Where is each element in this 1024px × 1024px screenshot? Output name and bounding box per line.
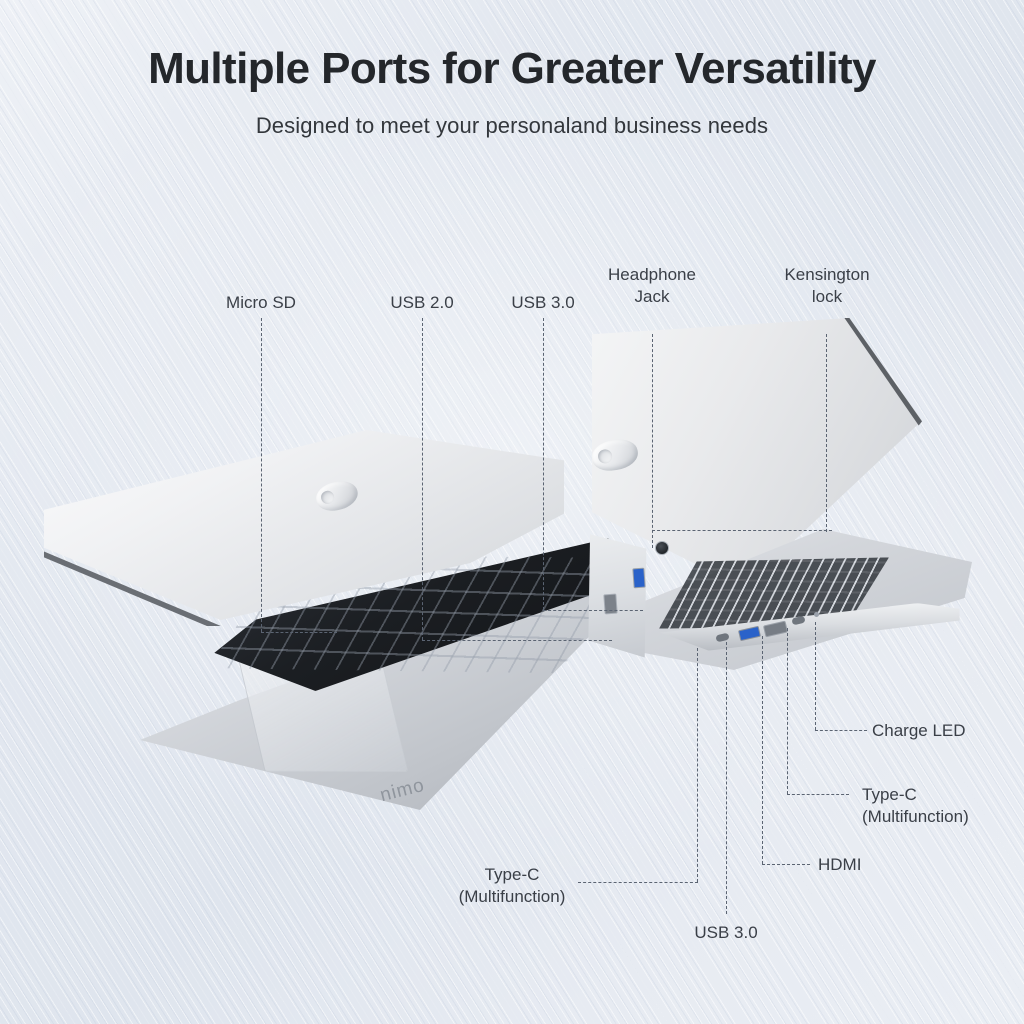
callout-text-kensington-lock-line2: lock: [752, 286, 902, 308]
port-headphone-jack-icon: [655, 541, 669, 555]
callout-label-charge-led: Charge LED: [872, 720, 1022, 742]
callout-label-usb-2-0: USB 2.0: [352, 292, 492, 314]
callout-label-headphone-jack: Headphone Jack: [577, 264, 727, 308]
callout-text-usb-3-0-bottom-line1: USB 3.0: [694, 923, 757, 942]
callout-label-usb-3-0-bottom: USB 3.0: [656, 922, 796, 944]
callout-label-type-c-bottom: Type-C (Multifunction): [432, 864, 592, 908]
callout-text-type-c-right-line1: Type-C: [862, 784, 1024, 806]
callout-text-headphone-jack-line2: Jack: [577, 286, 727, 308]
callout-text-kensington-lock-line1: Kensington: [752, 264, 902, 286]
infographic-canvas: Multiple Ports for Greater Versatility D…: [0, 0, 1024, 1024]
charge-led-icon: [814, 612, 819, 617]
callout-text-usb-2-0-line1: USB 2.0: [390, 293, 453, 312]
callout-label-micro-sd: Micro SD: [186, 292, 336, 314]
callout-text-charge-led-line1: Charge LED: [872, 721, 966, 740]
callout-text-type-c-right-line2: (Multifunction): [862, 806, 1024, 828]
callout-text-hdmi-line1: HDMI: [818, 855, 861, 874]
port-usb-3-0-side-icon: [632, 568, 645, 589]
port-usb-2-0-icon: [603, 594, 617, 615]
callout-label-hdmi: HDMI: [818, 854, 928, 876]
callout-label-kensington-lock: Kensington lock: [752, 264, 902, 308]
callout-text-type-c-bottom-line1: Type-C: [432, 864, 592, 886]
callout-label-type-c-right: Type-C (Multifunction): [862, 784, 1024, 828]
callout-text-type-c-bottom-line2: (Multifunction): [432, 886, 592, 908]
callout-text-headphone-jack-line1: Headphone: [577, 264, 727, 286]
callout-text-usb-3-0-top-line1: USB 3.0: [511, 293, 574, 312]
callout-text-micro-sd-line1: Micro SD: [226, 293, 296, 312]
